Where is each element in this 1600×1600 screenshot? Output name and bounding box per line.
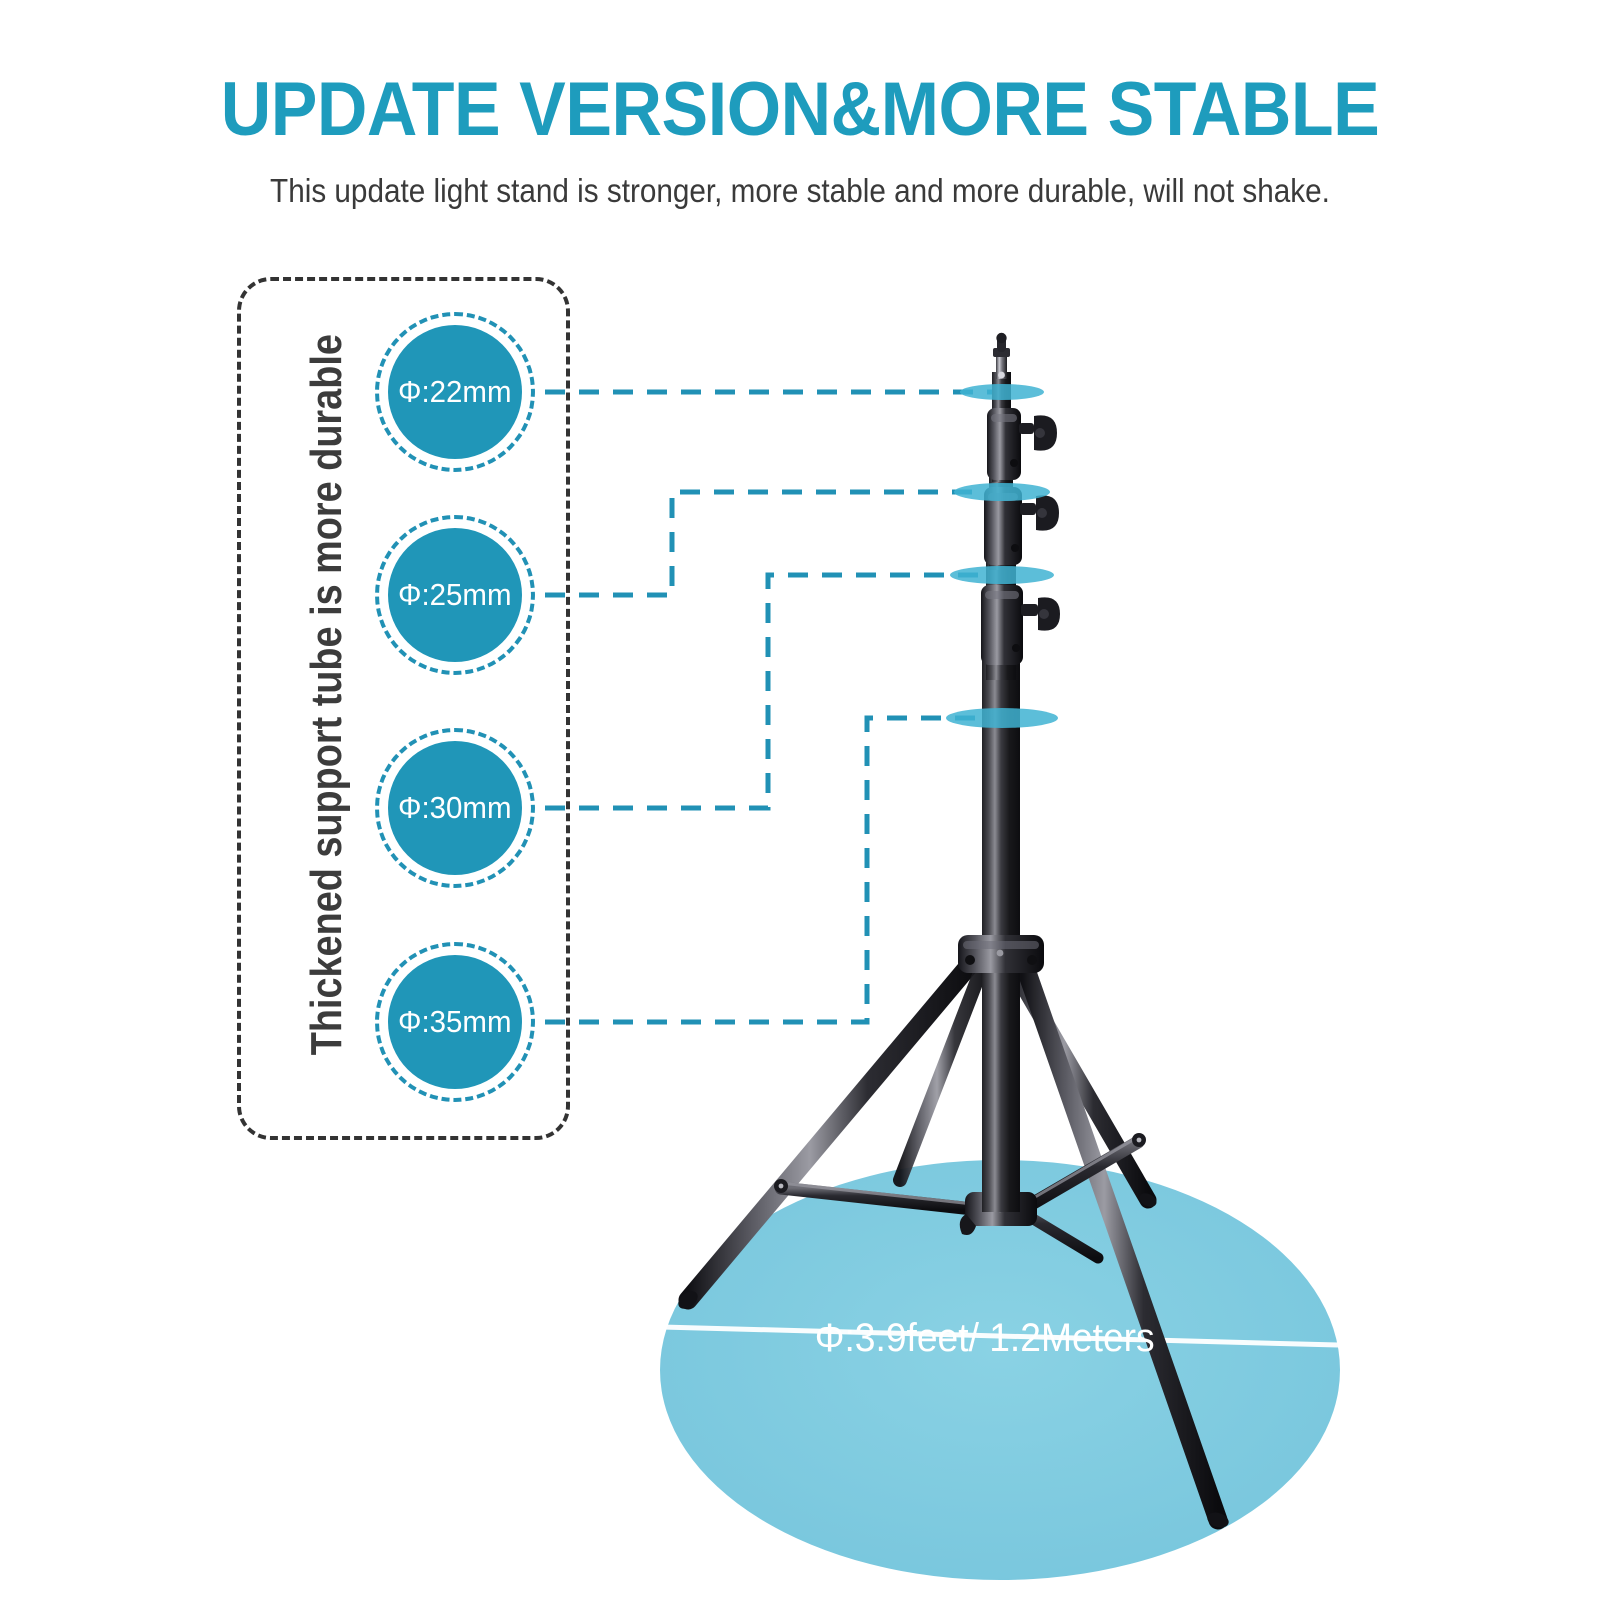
spigot-icon xyxy=(993,333,1010,379)
tripod-legs xyxy=(688,952,1218,1520)
spec-label: Φ:35mm xyxy=(375,1004,535,1040)
infographic-canvas: UPDATE VERSION&MORE STABLE This update l… xyxy=(0,0,1600,1600)
leg-hub-collar xyxy=(958,935,1044,973)
base-dimension-text: Φ:3.9feet/ 1.2Meters xyxy=(815,1316,1155,1361)
lock-collar-2 xyxy=(984,487,1059,565)
spec-label: Φ:25mm xyxy=(375,577,535,613)
lock-collar-1 xyxy=(987,408,1057,480)
column-section-30mm xyxy=(986,530,1016,680)
lock-knob-icon-1 xyxy=(1019,415,1057,450)
spec-circle-22mm[interactable]: Φ:22mm xyxy=(375,312,535,472)
tube-section-markers xyxy=(946,384,1058,728)
page-title: UPDATE VERSION&MORE STABLE xyxy=(64,72,1536,148)
spec-panel-label: Thickened support tube is more durable xyxy=(302,294,352,1114)
spec-panel-label-text: Thickened support tube is more durable xyxy=(302,334,352,1055)
spec-circle-35mm[interactable]: Φ:35mm xyxy=(375,942,535,1102)
lock-knob-icon-3 xyxy=(1021,597,1060,630)
tripod-brace-bars xyxy=(774,1133,1146,1258)
lock-knob-icon-2 xyxy=(1020,495,1059,530)
page-subtitle: This update light stand is stronger, mor… xyxy=(80,172,1520,210)
spec-label: Φ:22mm xyxy=(375,374,535,410)
column-section-25mm xyxy=(989,440,1013,570)
lock-collar-3 xyxy=(981,585,1060,665)
ellipse-marker-icon-1 xyxy=(960,384,1044,400)
lower-brace-hub xyxy=(960,1192,1037,1235)
ellipse-marker-icon-4 xyxy=(946,708,1058,728)
base-dimension-caption: Φ:3.9feet/ 1.2Meters xyxy=(705,1316,1265,1361)
ellipse-marker-icon-2 xyxy=(954,483,1050,501)
spec-circle-25mm[interactable]: Φ:25mm xyxy=(375,515,535,675)
spec-label: Φ:30mm xyxy=(375,790,535,826)
column-section-35mm xyxy=(982,640,1020,1212)
column-section-22mm xyxy=(992,372,1011,482)
spec-circle-30mm[interactable]: Φ:30mm xyxy=(375,728,535,888)
ellipse-marker-icon-3 xyxy=(950,566,1054,584)
base-footprint-ellipse xyxy=(660,1160,1340,1580)
